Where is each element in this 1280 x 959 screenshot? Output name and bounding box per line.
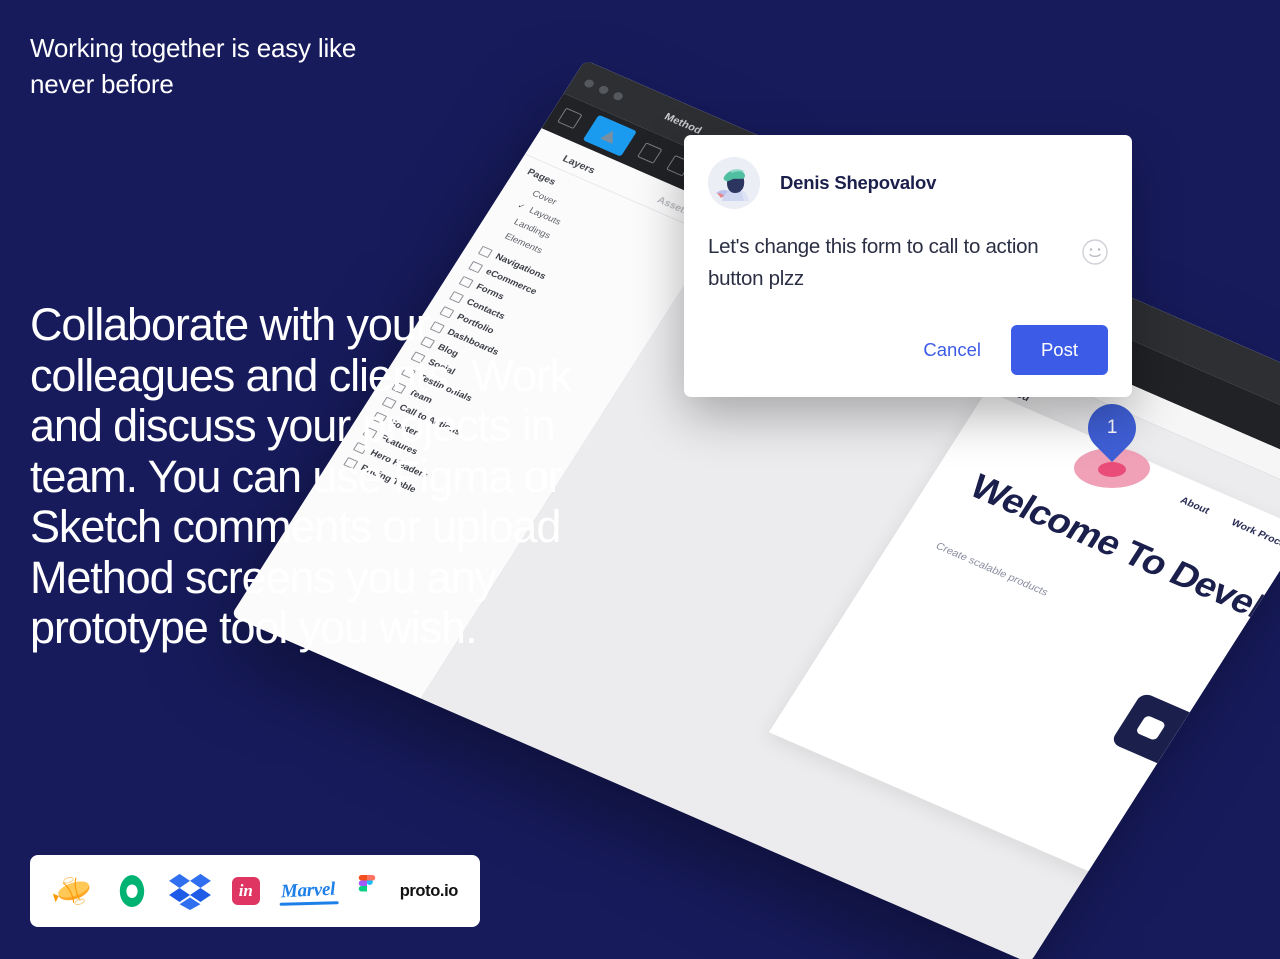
mockup-hero-subtitle: Create scalable products — [934, 541, 1051, 599]
nav-item-work-process[interactable]: Work Process — [1229, 517, 1280, 554]
layer-icon — [468, 260, 483, 272]
menu-icon[interactable] — [557, 108, 582, 129]
layer-icon — [459, 276, 474, 288]
mockup-window-title: Method — [662, 111, 704, 136]
smiley-icon[interactable] — [1082, 239, 1108, 265]
hero-section: Method Layers Assets — [0, 0, 1280, 959]
layer-icon — [478, 245, 493, 257]
nav-item-about[interactable]: About — [1178, 495, 1212, 517]
pin-shadow-core — [1098, 462, 1126, 477]
marvel-logo[interactable]: Marvel — [281, 871, 335, 911]
zeplin-logo[interactable] — [52, 871, 96, 911]
figma-logo[interactable] — [356, 871, 378, 911]
app-icon — [1201, 743, 1232, 769]
pin-number: 1 — [1107, 417, 1118, 439]
eyebrow-text: Working together is easy like never befo… — [30, 30, 550, 102]
comment-body: Let's change this form to call to action… — [708, 231, 1108, 295]
marvel-wordmark: Marvel — [281, 879, 336, 904]
mockup-hero-title: Welcome To Develop — [963, 468, 1280, 642]
invision-mark: in — [232, 877, 260, 905]
app-icon — [1135, 715, 1166, 741]
window-dot-close[interactable] — [583, 78, 596, 89]
avatar — [708, 157, 760, 209]
dropbox-logo[interactable] — [169, 871, 211, 911]
comment-card: Denis Shepovalov Let's change this form … — [684, 135, 1132, 397]
cancel-button[interactable]: Cancel — [915, 333, 989, 367]
comment-actions: Cancel Post — [708, 325, 1108, 375]
integrations-logo-bar: in Marvel proto.io — [30, 855, 480, 927]
artboard[interactable]: About Work Process Services Contacts Wel… — [769, 391, 1280, 938]
comment-pin[interactable]: 1 — [1072, 404, 1152, 494]
window-dot-maximize[interactable] — [612, 90, 625, 101]
check-icon: ✓ — [516, 201, 527, 211]
mockup-dark-card[interactable]: Chat — [1110, 692, 1280, 826]
window-dot-minimize[interactable] — [598, 84, 611, 95]
page-title: Collaborate with your colleagues and cli… — [30, 300, 590, 654]
comment-header: Denis Shepovalov — [708, 157, 1108, 209]
cursor-icon — [600, 128, 619, 144]
comment-author-name: Denis Shepovalov — [780, 172, 936, 194]
invision-logo[interactable]: in — [232, 871, 260, 911]
avocode-logo[interactable] — [117, 871, 147, 911]
post-button[interactable]: Post — [1011, 325, 1108, 375]
protoio-logo[interactable]: proto.io — [400, 871, 458, 911]
protoio-wordmark: proto.io — [400, 882, 458, 901]
dark-card-label: Chat — [1171, 733, 1197, 751]
comment-message: Let's change this form to call to action… — [708, 231, 1070, 295]
grid-icon[interactable] — [637, 142, 662, 163]
